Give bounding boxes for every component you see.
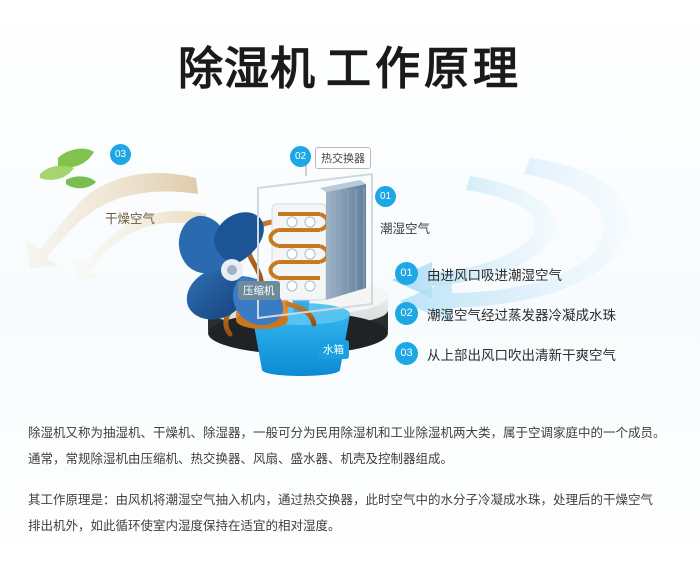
- paragraph-1: 除湿机又称为抽湿机、干燥机、除湿器，一般可分为民用除湿机和工业除湿机两大类，属于…: [28, 420, 674, 472]
- machine-base-dark: [208, 310, 388, 345]
- machine-base-body: [208, 289, 388, 331]
- label-dry-air: 干燥空气: [105, 208, 155, 228]
- title-main-text: 除湿机: [178, 43, 316, 94]
- badge-03-group: 03: [110, 144, 131, 165]
- callout-heat-exchanger: 热交换器: [315, 147, 371, 169]
- paragraph-1-line-2: 通常，常规除湿机由压缩机、热交换器、风扇、盛水器、机壳及控制器组成。: [28, 446, 674, 472]
- legend-badge-01: 01: [395, 262, 418, 285]
- label-humid-air: 潮湿空气: [380, 218, 430, 238]
- fan-icon: [179, 212, 283, 325]
- legend-text-02: 潮湿空气经过蒸发器冷凝成水珠: [427, 304, 616, 324]
- tag-water-tank: 水箱: [318, 340, 349, 359]
- legend-text-01: 由进风口吸进潮湿空气: [427, 264, 562, 284]
- title-sub-text: 工作原理: [326, 43, 522, 94]
- legend-item-03: 03 从上部出风口吹出清新干爽空气: [395, 342, 695, 365]
- legend-text-03: 从上部出风口吹出清新干爽空气: [427, 344, 616, 364]
- legend-badge-03: 03: [395, 342, 418, 365]
- badge-02: 02: [290, 146, 311, 167]
- tag-compressor: 压缩机: [238, 281, 280, 300]
- water-drip-stream: [290, 278, 312, 314]
- badge-01-group: 01: [375, 186, 396, 207]
- leaf-icon: [40, 149, 96, 189]
- legend-list: 01 由进风口吸进潮湿空气 02 潮湿空气经过蒸发器冷凝成水珠 03 从上部出风…: [395, 262, 695, 382]
- badge-03: 03: [110, 144, 131, 165]
- legend-item-01: 01 由进风口吸进潮湿空气: [395, 262, 695, 285]
- compressor-body: [236, 296, 288, 326]
- legend-item-02: 02 潮湿空气经过蒸发器冷凝成水珠: [395, 302, 695, 325]
- page-title: 除湿机工作原理: [0, 32, 700, 97]
- paragraph-1-line-1: 除湿机又称为抽湿机、干燥机、除湿器，一般可分为民用除湿机和工业除湿机两大类，属于…: [28, 420, 674, 446]
- paragraph-2: 其工作原理是：由风机将潮湿空气抽入机内，通过热交换器，此时空气中的水分子冷凝成水…: [28, 487, 674, 539]
- paragraph-2-line-2: 排出机外，如此循环使室内湿度保持在适宜的相对湿度。: [28, 513, 674, 539]
- badge-01: 01: [375, 186, 396, 207]
- badge-02-group: 02: [290, 146, 311, 167]
- machine-base-shadow: [208, 308, 388, 352]
- water-tank-top: [252, 303, 350, 325]
- legend-badge-02: 02: [395, 302, 418, 325]
- compressor-bottom: [236, 311, 288, 329]
- paragraph-2-line-1: 其工作原理是：由风机将潮湿空气抽入机内，通过热交换器，此时空气中的水分子冷凝成水…: [28, 487, 674, 513]
- machine-base-top: [208, 276, 388, 316]
- page-root: 除湿机工作原理: [0, 0, 700, 566]
- copper-pipes: [226, 222, 314, 334]
- machine-base-bottom: [208, 312, 388, 354]
- heat-exchanger-fins: [320, 180, 366, 300]
